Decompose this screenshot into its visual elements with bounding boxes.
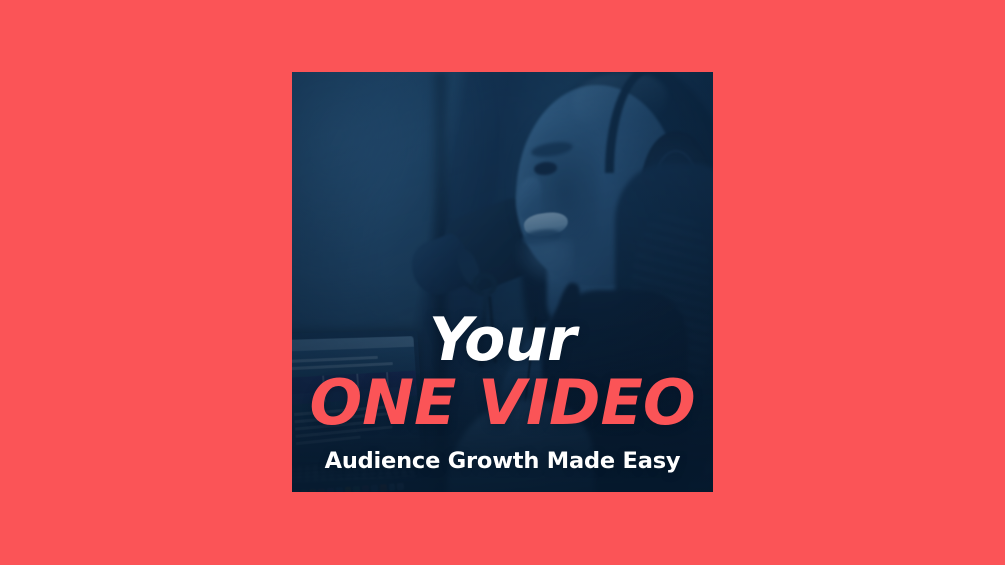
headline-line-1: Your (308, 311, 697, 369)
headline-text-block: Your ONE VIDEO Audience Growth Made Easy (292, 311, 713, 492)
podcast-cover-artwork: Your ONE VIDEO Audience Growth Made Easy (292, 72, 713, 492)
canvas-background: Your ONE VIDEO Audience Growth Made Easy (0, 0, 1005, 565)
subtitle: Audience Growth Made Easy (308, 448, 697, 474)
headline-line-2: ONE VIDEO (308, 371, 697, 434)
